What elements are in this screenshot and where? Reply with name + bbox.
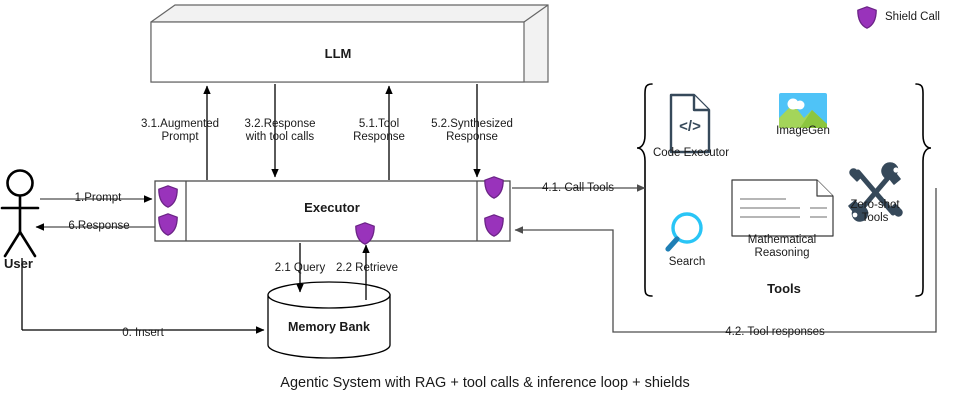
edge-label-retrieve: 2.2 Retrieve [336, 262, 398, 275]
edge-label-synthesized-response: 5.2.Synthesized Response [431, 118, 513, 144]
edge-label-query: 2.1 Query [275, 262, 326, 275]
diagram-canvas: </> [0, 0, 970, 411]
tool-label-code-executor: Code Executor [653, 147, 729, 160]
llm-node-shape [151, 5, 548, 82]
tool-label-search: Search [669, 256, 705, 269]
edge-label-call-tools: 4.1. Call Tools [542, 182, 614, 195]
edge-label-response-to-user: 6.Response [68, 220, 129, 233]
tools-group-label: Tools [767, 282, 801, 295]
user-actor-shape [2, 171, 38, 257]
edge-label-response-with-tool-calls: 3.2.Response with tool calls [245, 118, 316, 144]
diagram-vector-layer: </> [0, 0, 970, 411]
tool-label-imagegen: ImageGen [776, 125, 830, 138]
image-picture-icon [779, 93, 827, 128]
tool-label-mathematical-reasoning: Mathematical Reasoning [748, 234, 816, 260]
edge-label-tool-response: 5.1.Tool Response [353, 118, 405, 144]
legend-shield-label: Shield Call [885, 11, 940, 24]
magnifier-icon [668, 214, 701, 249]
executor-node-label: Executor [304, 201, 360, 214]
code-document-icon: </> [671, 95, 709, 152]
edge-label-augmented-prompt: 3.1.Augmented Prompt [141, 118, 219, 144]
edge-label-tool-responses: 4.2. Tool responses [725, 326, 825, 339]
edge-label-insert: 0. Insert [122, 327, 164, 340]
user-actor-label: User [4, 257, 33, 270]
svg-text:</>: </> [679, 118, 701, 135]
edge-label-prompt: 1.Prompt [75, 192, 122, 205]
diagram-caption: Agentic System with RAG + tool calls & i… [280, 377, 689, 390]
shield-legend-icon [858, 7, 876, 28]
llm-node-label: LLM [325, 47, 352, 60]
tool-label-zero-shot-tools: Zero-shot Tools [850, 199, 899, 225]
memory-bank-node-label: Memory Bank [288, 321, 370, 334]
math-formula-document-icon [732, 180, 833, 236]
